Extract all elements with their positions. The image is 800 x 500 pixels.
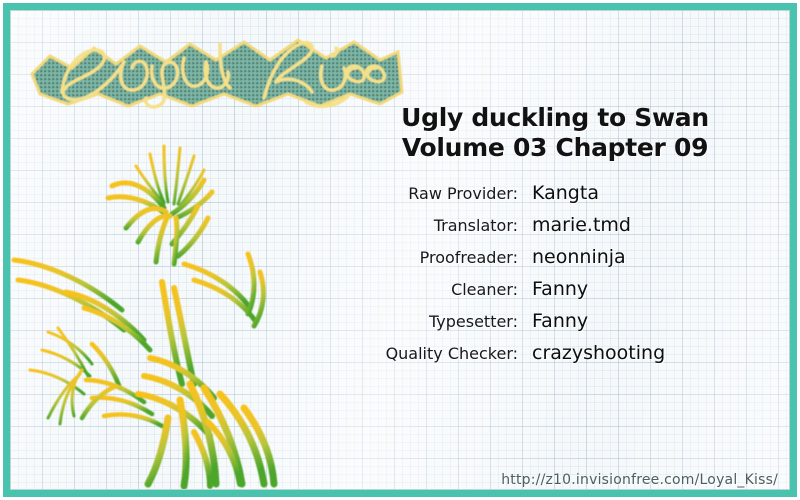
credit-label: Raw Provider: [300,184,518,203]
chapter-title: Ugly duckling to Swan Volume 03 Chapter … [330,103,780,163]
credit-label: Cleaner: [300,280,518,299]
credits-page: Ugly duckling to Swan Volume 03 Chapter … [0,0,800,500]
group-website-url[interactable]: http://z10.invisionfree.com/Loyal_Kiss/ [501,472,778,488]
title-line-2: Volume 03 Chapter 09 [330,133,780,163]
credit-value: Fanny [518,310,588,332]
credit-label: Quality Checker: [300,344,518,363]
credit-value: Fanny [518,278,588,300]
credit-value: crazyshooting [518,342,665,364]
group-logo [20,18,410,110]
credit-label: Proofreader: [300,248,518,267]
credit-row: Translator: marie.tmd [300,214,780,246]
credits-list: Raw Provider: Kangta Translator: marie.t… [300,182,780,374]
credit-value: marie.tmd [518,214,631,236]
credit-row: Raw Provider: Kangta [300,182,780,214]
credit-row: Proofreader: neonninja [300,246,780,278]
credit-row: Typesetter: Fanny [300,310,780,342]
credit-value: Kangta [518,182,599,204]
credit-row: Quality Checker: crazyshooting [300,342,780,374]
credit-row: Cleaner: Fanny [300,278,780,310]
credit-label: Typesetter: [300,312,518,331]
title-line-1: Ugly duckling to Swan [330,103,780,133]
credit-label: Translator: [300,216,518,235]
credit-value: neonninja [518,246,626,268]
lily-flower-illustration [8,132,308,490]
